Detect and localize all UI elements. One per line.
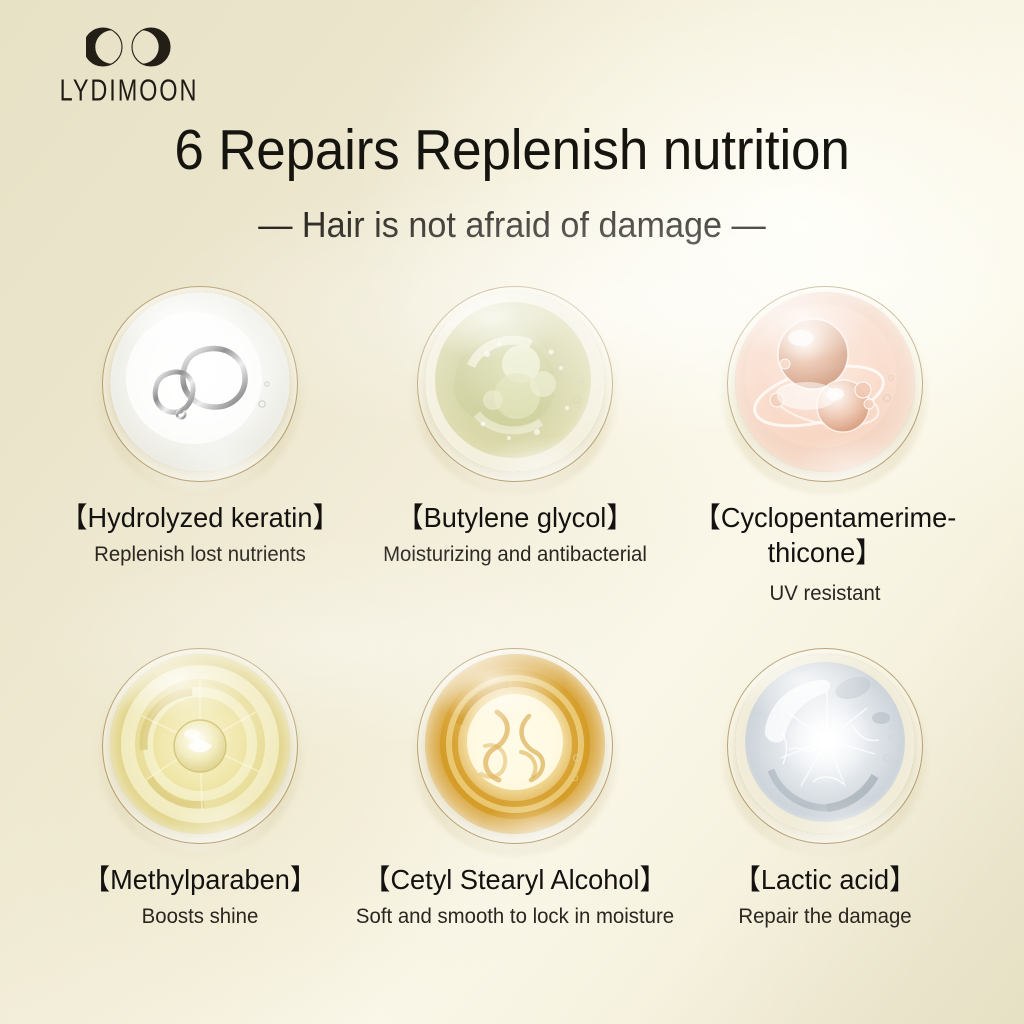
swatch-olive-gel	[425, 292, 605, 472]
swatch-silver-glass-sphere	[735, 654, 915, 834]
overlapping-rings-logo-icon	[86, 20, 172, 74]
swatch-champagne-liquid	[110, 654, 290, 834]
ingredient-grid: 【Hydrolyzed keratin】 Replenish lost nutr…	[0, 286, 1024, 986]
ingredient-card-cyclopentamerimethicone: 【Cyclopentamerime-thicone】 UV resistant	[660, 286, 990, 607]
ingredient-name: 【Cyclopentamerime-thicone】	[665, 500, 985, 571]
ingredient-card-methylparaben: 【Methylparaben】 Boosts shine	[35, 648, 365, 931]
swatch-rose-spheres	[735, 292, 915, 472]
swatch-art	[735, 654, 915, 834]
swatch-art	[110, 292, 290, 472]
swatch-art	[425, 654, 605, 834]
ingredient-name: 【Cetyl Stearyl Alcohol】	[355, 862, 675, 897]
brand-logo: LYDIMOON	[14, 20, 244, 101]
ingredient-swatch-wrap	[102, 286, 298, 482]
product-infographic-poster: LYDIMOON 6 Repairs Replenish nutrition —…	[0, 0, 1024, 1024]
brand-name: LYDIMOON	[21, 76, 237, 107]
ingredient-row: 【Hydrolyzed keratin】 Replenish lost nutr…	[0, 286, 1024, 636]
ingredient-desc: Moisturizing and antibacterial	[355, 542, 675, 568]
ingredient-name: 【Methylparaben】	[40, 862, 360, 897]
swatch-art	[110, 654, 290, 834]
swatch-clear-white-gel	[110, 292, 290, 472]
ingredient-swatch-wrap	[102, 648, 298, 844]
swatch-art	[425, 292, 605, 472]
ingredient-swatch-wrap	[727, 648, 923, 844]
ingredient-swatch-wrap	[417, 648, 613, 844]
ingredient-name: 【Butylene glycol】	[355, 500, 675, 535]
page-subtitle: — Hair is not afraid of damage —	[26, 205, 999, 245]
ingredient-desc: Soft and smooth to lock in moisture	[355, 904, 675, 930]
swatch-golden-amber-swirl	[425, 654, 605, 834]
ingredient-desc: Replenish lost nutrients	[40, 542, 360, 568]
ingredient-desc: UV resistant	[665, 581, 985, 607]
ingredient-name: 【Hydrolyzed keratin】	[40, 500, 360, 535]
page-title: 6 Repairs Replenish nutrition	[36, 121, 988, 180]
ingredient-name: 【Lactic acid】	[665, 862, 985, 897]
ingredient-card-butylene-glycol: 【Butylene glycol】 Moisturizing and antib…	[350, 286, 680, 569]
ingredient-card-hydrolyzed-keratin: 【Hydrolyzed keratin】 Replenish lost nutr…	[35, 286, 365, 569]
ingredient-card-lactic-acid: 【Lactic acid】 Repair the damage	[660, 648, 990, 931]
ingredient-row: 【Methylparaben】 Boosts shine	[0, 648, 1024, 998]
ingredient-desc: Boosts shine	[40, 904, 360, 930]
ingredient-card-cetyl-stearyl-alcohol: 【Cetyl Stearyl Alcohol】 Soft and smooth …	[350, 648, 680, 931]
ingredient-swatch-wrap	[417, 286, 613, 482]
ingredient-desc: Repair the damage	[665, 904, 985, 930]
swatch-art	[735, 292, 915, 472]
ingredient-swatch-wrap	[727, 286, 923, 482]
